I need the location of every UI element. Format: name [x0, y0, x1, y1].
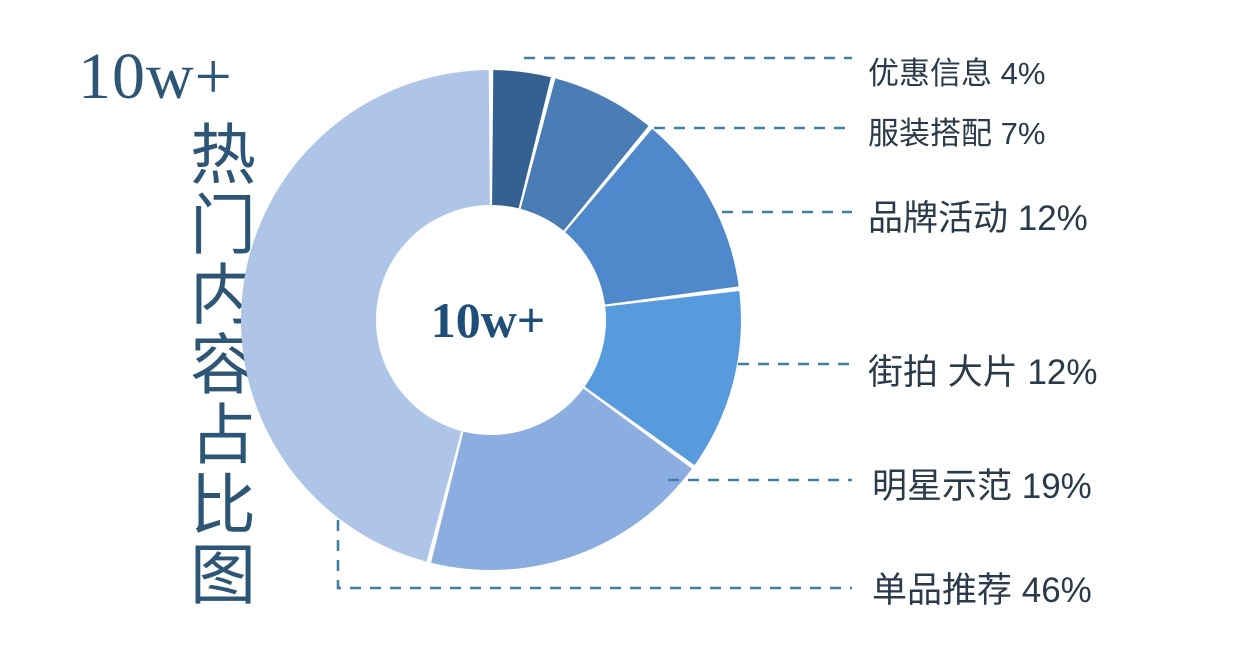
callout-label-jiepaidapian[interactable]: 街拍 大片 12% [868, 344, 1098, 395]
callout-label-fuzhuangdapei[interactable]: 服装搭配 7% [868, 108, 1045, 153]
callout-label-youhuixinxi[interactable]: 优惠信息 4% [868, 48, 1045, 93]
callout-label-pinpaihuodong[interactable]: 品牌活动 12% [868, 190, 1088, 241]
donut-slices [241, 70, 741, 570]
donut-chart: 10w+ [236, 48, 746, 593]
callout-label-mingxingshifan[interactable]: 明星示范 19% [872, 458, 1092, 509]
callout-label-danpintuijian[interactable]: 单品推荐 46% [872, 562, 1092, 613]
chart-page: 10w+ 热门内容占比图 10w+ 优惠信息 4% 服装搭配 7% 品牌活动 1… [0, 0, 1240, 659]
page-title-headline: 10w+ [78, 44, 233, 110]
donut-chart-svg [236, 48, 746, 593]
